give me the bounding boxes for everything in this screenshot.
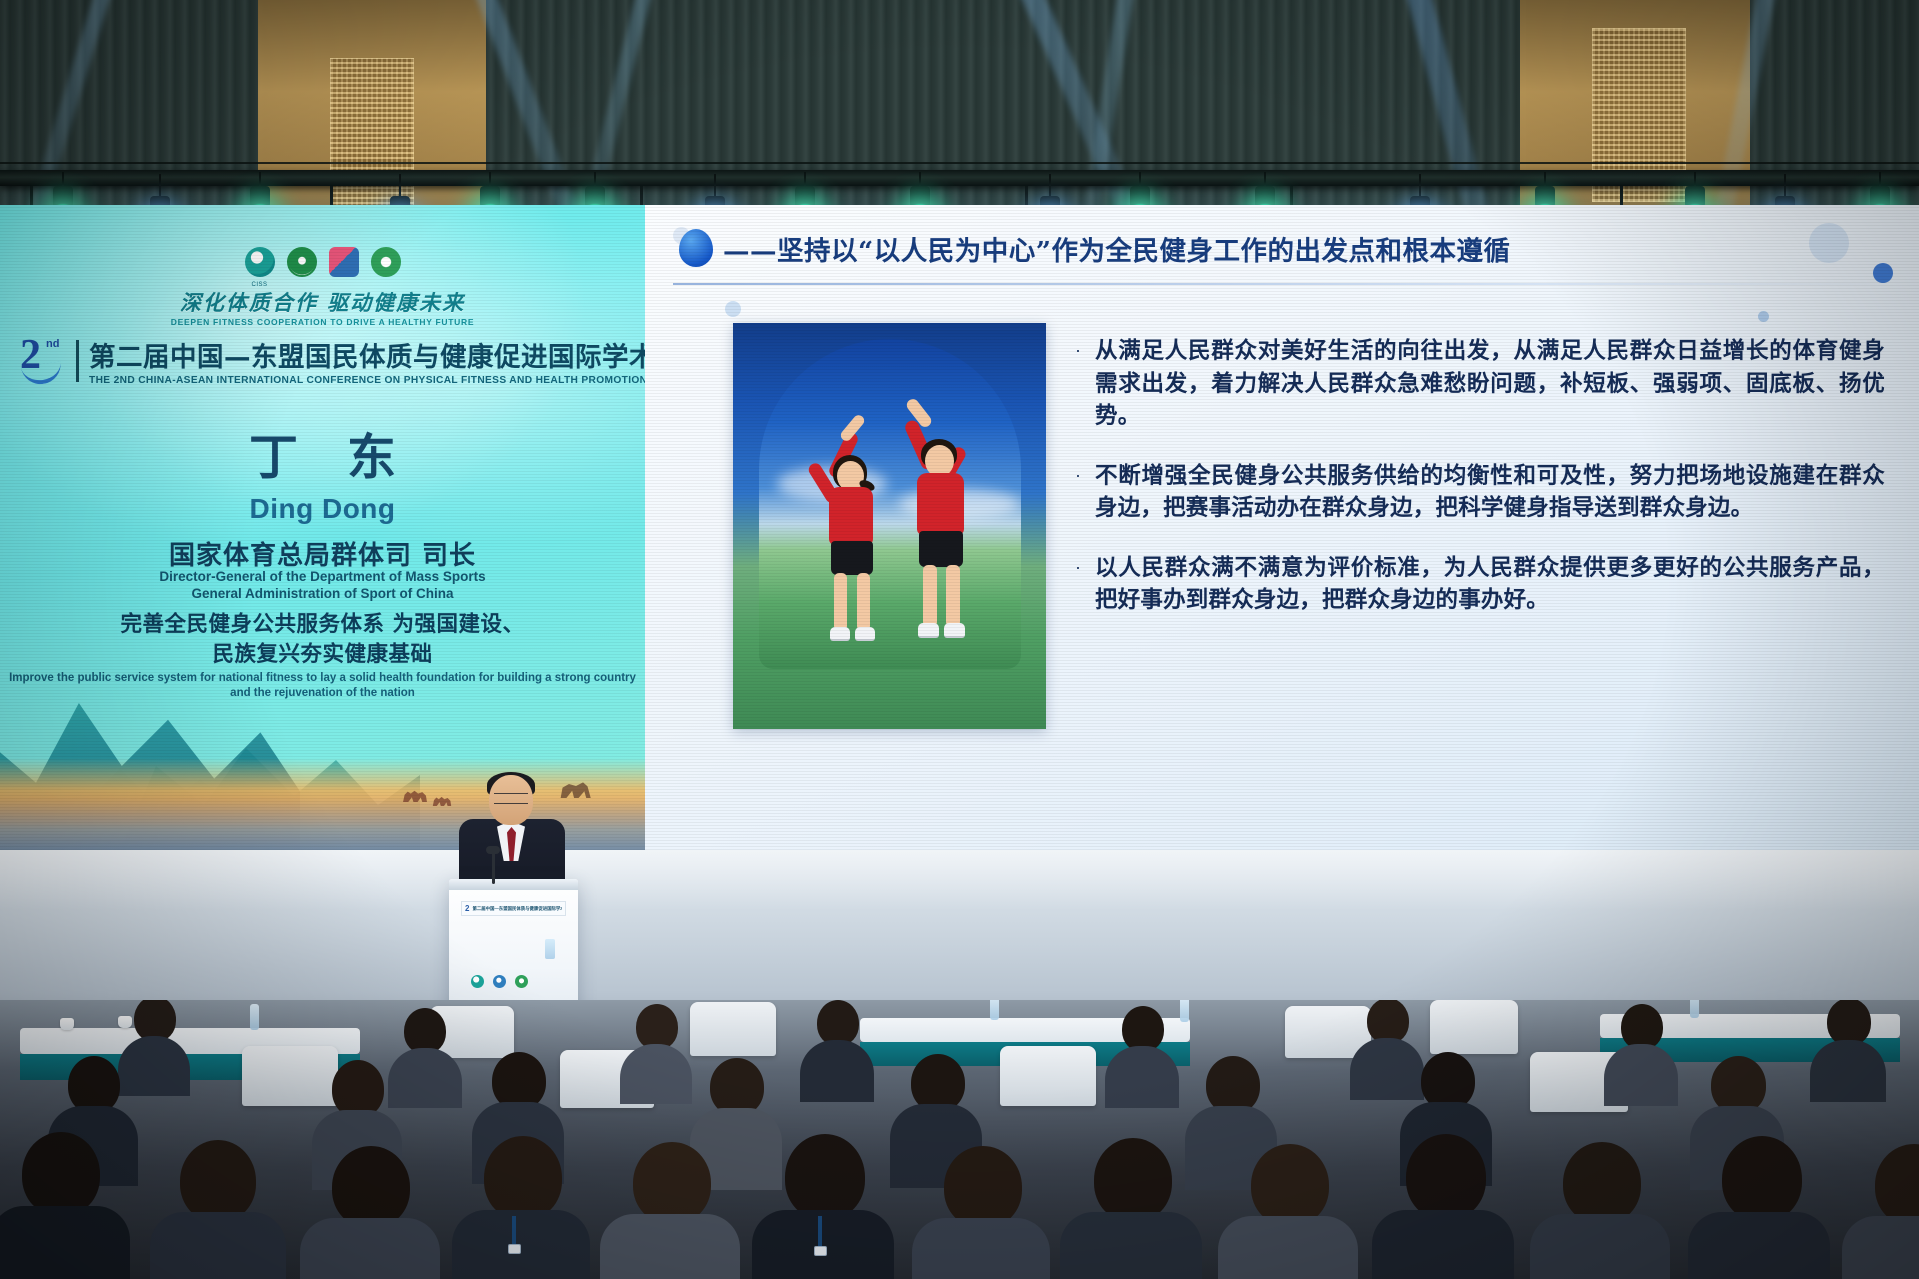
slide-photo-children-exercising (733, 323, 1046, 729)
speaker-intro-panel: CISS 深化体质合作 驱动健康未来 DEEPEN FITNESS COOPER… (0, 205, 645, 850)
partner-logo-2-icon (287, 247, 317, 277)
bullet-dot-icon: · (1075, 460, 1085, 525)
teacup (60, 1018, 74, 1030)
audience-member (1218, 1144, 1358, 1279)
audience-member (1105, 1006, 1179, 1100)
audience-area (0, 1000, 1919, 1279)
chair-back (690, 1002, 776, 1056)
conference-photo: CISS 深化体质合作 驱动健康未来 DEEPEN FITNESS COOPER… (0, 0, 1919, 1279)
organizer-logo-row: CISS (0, 247, 645, 277)
conference-banner: 2 nd 第二届中国—东盟国民体质与健康促进国际学术会议 THE 2ND CHI… (20, 335, 625, 386)
slide-title-underline (673, 283, 1895, 285)
conference-slogan-en: DEEPEN FITNESS COOPERATION TO DRIVE A HE… (0, 317, 645, 327)
glasses-icon (494, 793, 528, 804)
audience-member (1842, 1144, 1919, 1279)
slide-bullet-mark-icon (673, 227, 715, 269)
list-item: · 不断增强全民健身公共服务供给的均衡性和可及性，努力把场地设施建在群众身边，把… (1075, 460, 1885, 525)
slide-bullet-list: · 从满足人民群众对美好生活的向往出发，从满足人民群众日益增长的体育健身需求出发… (1075, 335, 1885, 644)
conference-title-cn: 第二届中国—东盟国民体质与健康促进国际学术会议 (89, 335, 645, 374)
audience-member (0, 1132, 130, 1279)
slide-header: ——坚持以“以人民为中心”作为全民健身工作的出发点和根本遵循 (673, 227, 1889, 269)
ciss-logo-icon: CISS (245, 247, 275, 277)
podium-sign-mark: 2 (465, 905, 469, 913)
speaker-title-cn: 国家体育总局群体司 司长 (0, 535, 645, 572)
decor-circle-mid (725, 301, 741, 317)
list-item: · 从满足人民群众对美好生活的向往出发，从满足人民群众日益增长的体育健身需求出发… (1075, 335, 1885, 433)
audience-member (1688, 1136, 1830, 1279)
audience-member (1530, 1142, 1670, 1279)
audience-member (1604, 1004, 1678, 1098)
photo-arch-frame (759, 339, 1021, 669)
partner-logo-4-icon (371, 247, 401, 277)
audience-member (1060, 1138, 1202, 1279)
list-item: · 以人民群众满不满意为评价标准，为人民群众提供更多更好的公共服务产品，把好事办… (1075, 552, 1885, 617)
banner-divider (76, 340, 79, 382)
slide-title: ——坚持以“以人民为中心”作为全民健身工作的出发点和根本遵循 (723, 229, 1511, 268)
speaker-at-podium (445, 775, 585, 890)
badge (508, 1244, 521, 1254)
led-screen: CISS 深化体质合作 驱动健康未来 DEEPEN FITNESS COOPER… (0, 205, 1919, 850)
second-edition-mark-icon: 2 nd (20, 338, 66, 384)
badge (814, 1246, 827, 1256)
microphone-head-icon (486, 846, 500, 854)
water-glass (545, 939, 555, 959)
microphone (492, 852, 495, 884)
chair-back (1000, 1046, 1096, 1106)
conference-title-en: THE 2ND CHINA-ASEAN INTERNATIONAL CONFER… (89, 375, 645, 386)
audience-member (620, 1004, 692, 1096)
podium-sign: 2 第二届中国—东盟国民体质与健康促进国际学术会议 (461, 901, 566, 916)
audience-member (912, 1146, 1050, 1279)
water-bottle (250, 1004, 259, 1030)
bullet-dot-icon: · (1075, 335, 1085, 433)
speaker-title-en-line1: Director-General of the Department of Ma… (0, 569, 645, 584)
speaker-name-en: Ding Dong (0, 493, 645, 525)
water-bottle (1690, 1000, 1699, 1018)
audience-member (1810, 1000, 1886, 1094)
presentation-slide: ——坚持以“以人民为中心”作为全民健身工作的出发点和根本遵循 (645, 205, 1919, 850)
audience-member (600, 1142, 740, 1279)
water-bottle (1180, 1000, 1189, 1022)
lighting-truss (0, 170, 1919, 186)
bullet-text: 不断增强全民健身公共服务供给的均衡性和可及性，努力把场地设施建在群众身边，把赛事… (1095, 460, 1885, 525)
audience-member (150, 1140, 286, 1279)
speaker-title-en-line2: General Administration of Sport of China (0, 586, 645, 601)
audience-member (752, 1134, 894, 1279)
audience-member (800, 1000, 874, 1094)
child-left (807, 425, 903, 655)
audience-member (300, 1146, 440, 1279)
podium-logo-1-icon (471, 975, 484, 988)
edition-superscript: nd (46, 338, 59, 350)
partner-logo-3-icon (329, 247, 359, 277)
speaker-name-cn: 丁 东 (0, 433, 645, 482)
bullet-dot-icon: · (1075, 552, 1085, 617)
bullet-text: 从满足人民群众对美好生活的向往出发，从满足人民群众日益增长的体育健身需求出发，着… (1095, 335, 1885, 433)
audience-member (1372, 1134, 1514, 1279)
podium-logo-row (471, 975, 528, 988)
podium-logo-2-icon (493, 975, 506, 988)
podium-logo-3-icon (515, 975, 528, 988)
podium-sign-text: 第二届中国—东盟国民体质与健康促进国际学术会议 (472, 906, 562, 911)
water-bottle (990, 1000, 999, 1020)
audience-member (452, 1136, 590, 1279)
conference-slogan-cn: 深化体质合作 驱动健康未来 (0, 287, 645, 317)
chair-back (1430, 1000, 1518, 1054)
decor-circle-tiny (1758, 311, 1769, 322)
child-right (891, 411, 1001, 655)
bullet-text: 以人民群众满不满意为评价标准，为人民群众提供更多更好的公共服务产品，把好事办到群… (1095, 552, 1885, 617)
